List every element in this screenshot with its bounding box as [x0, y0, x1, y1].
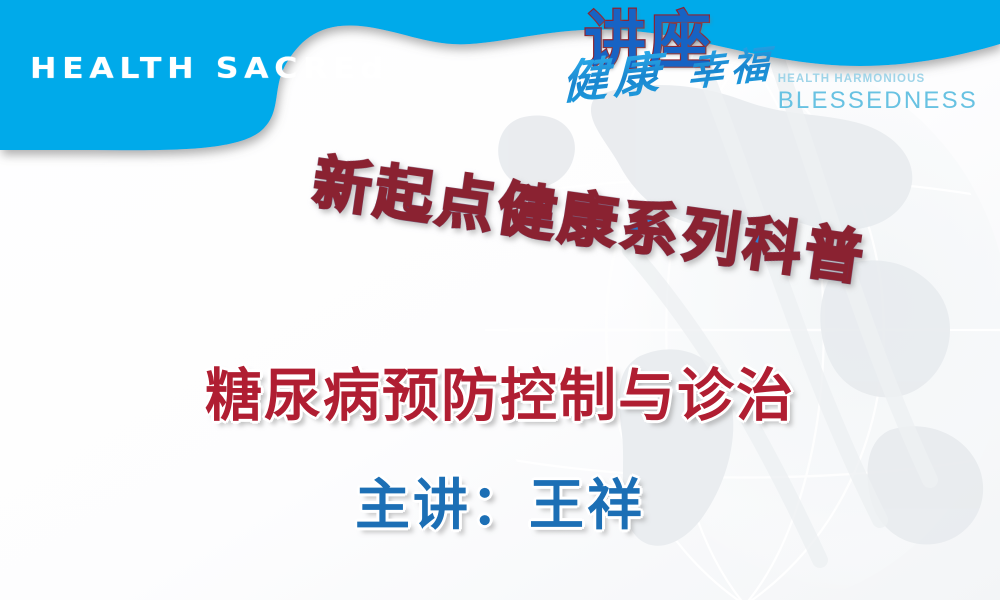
program-logo-cluster: 讲座 健康 幸福 HEALTH HARMONIOUS BLESSEDNESS	[562, 8, 982, 148]
subject-title: 糖尿病预防控制与诊治	[0, 368, 1000, 425]
tagline-main-line: BLESSEDNESS	[778, 89, 978, 113]
calligraphy-happiness: 幸福	[687, 40, 775, 95]
english-tagline: HEALTH HARMONIOUS BLESSEDNESS	[778, 74, 978, 113]
title-slide: HEALTH SACREd 讲座 健康 幸福 HEALTH HARMONIOUS…	[0, 0, 1000, 600]
speaker-line: 主讲：王祥	[0, 478, 1000, 533]
calligraphy-health: 健康	[562, 45, 666, 110]
brand-logo-text: HEALTH SACREd	[30, 52, 388, 85]
tagline-top-line: HEALTH HARMONIOUS	[778, 74, 978, 86]
series-title-text: 新起点健康系列科普	[310, 152, 871, 290]
series-title: 新起点健康系列科普	[310, 152, 871, 290]
